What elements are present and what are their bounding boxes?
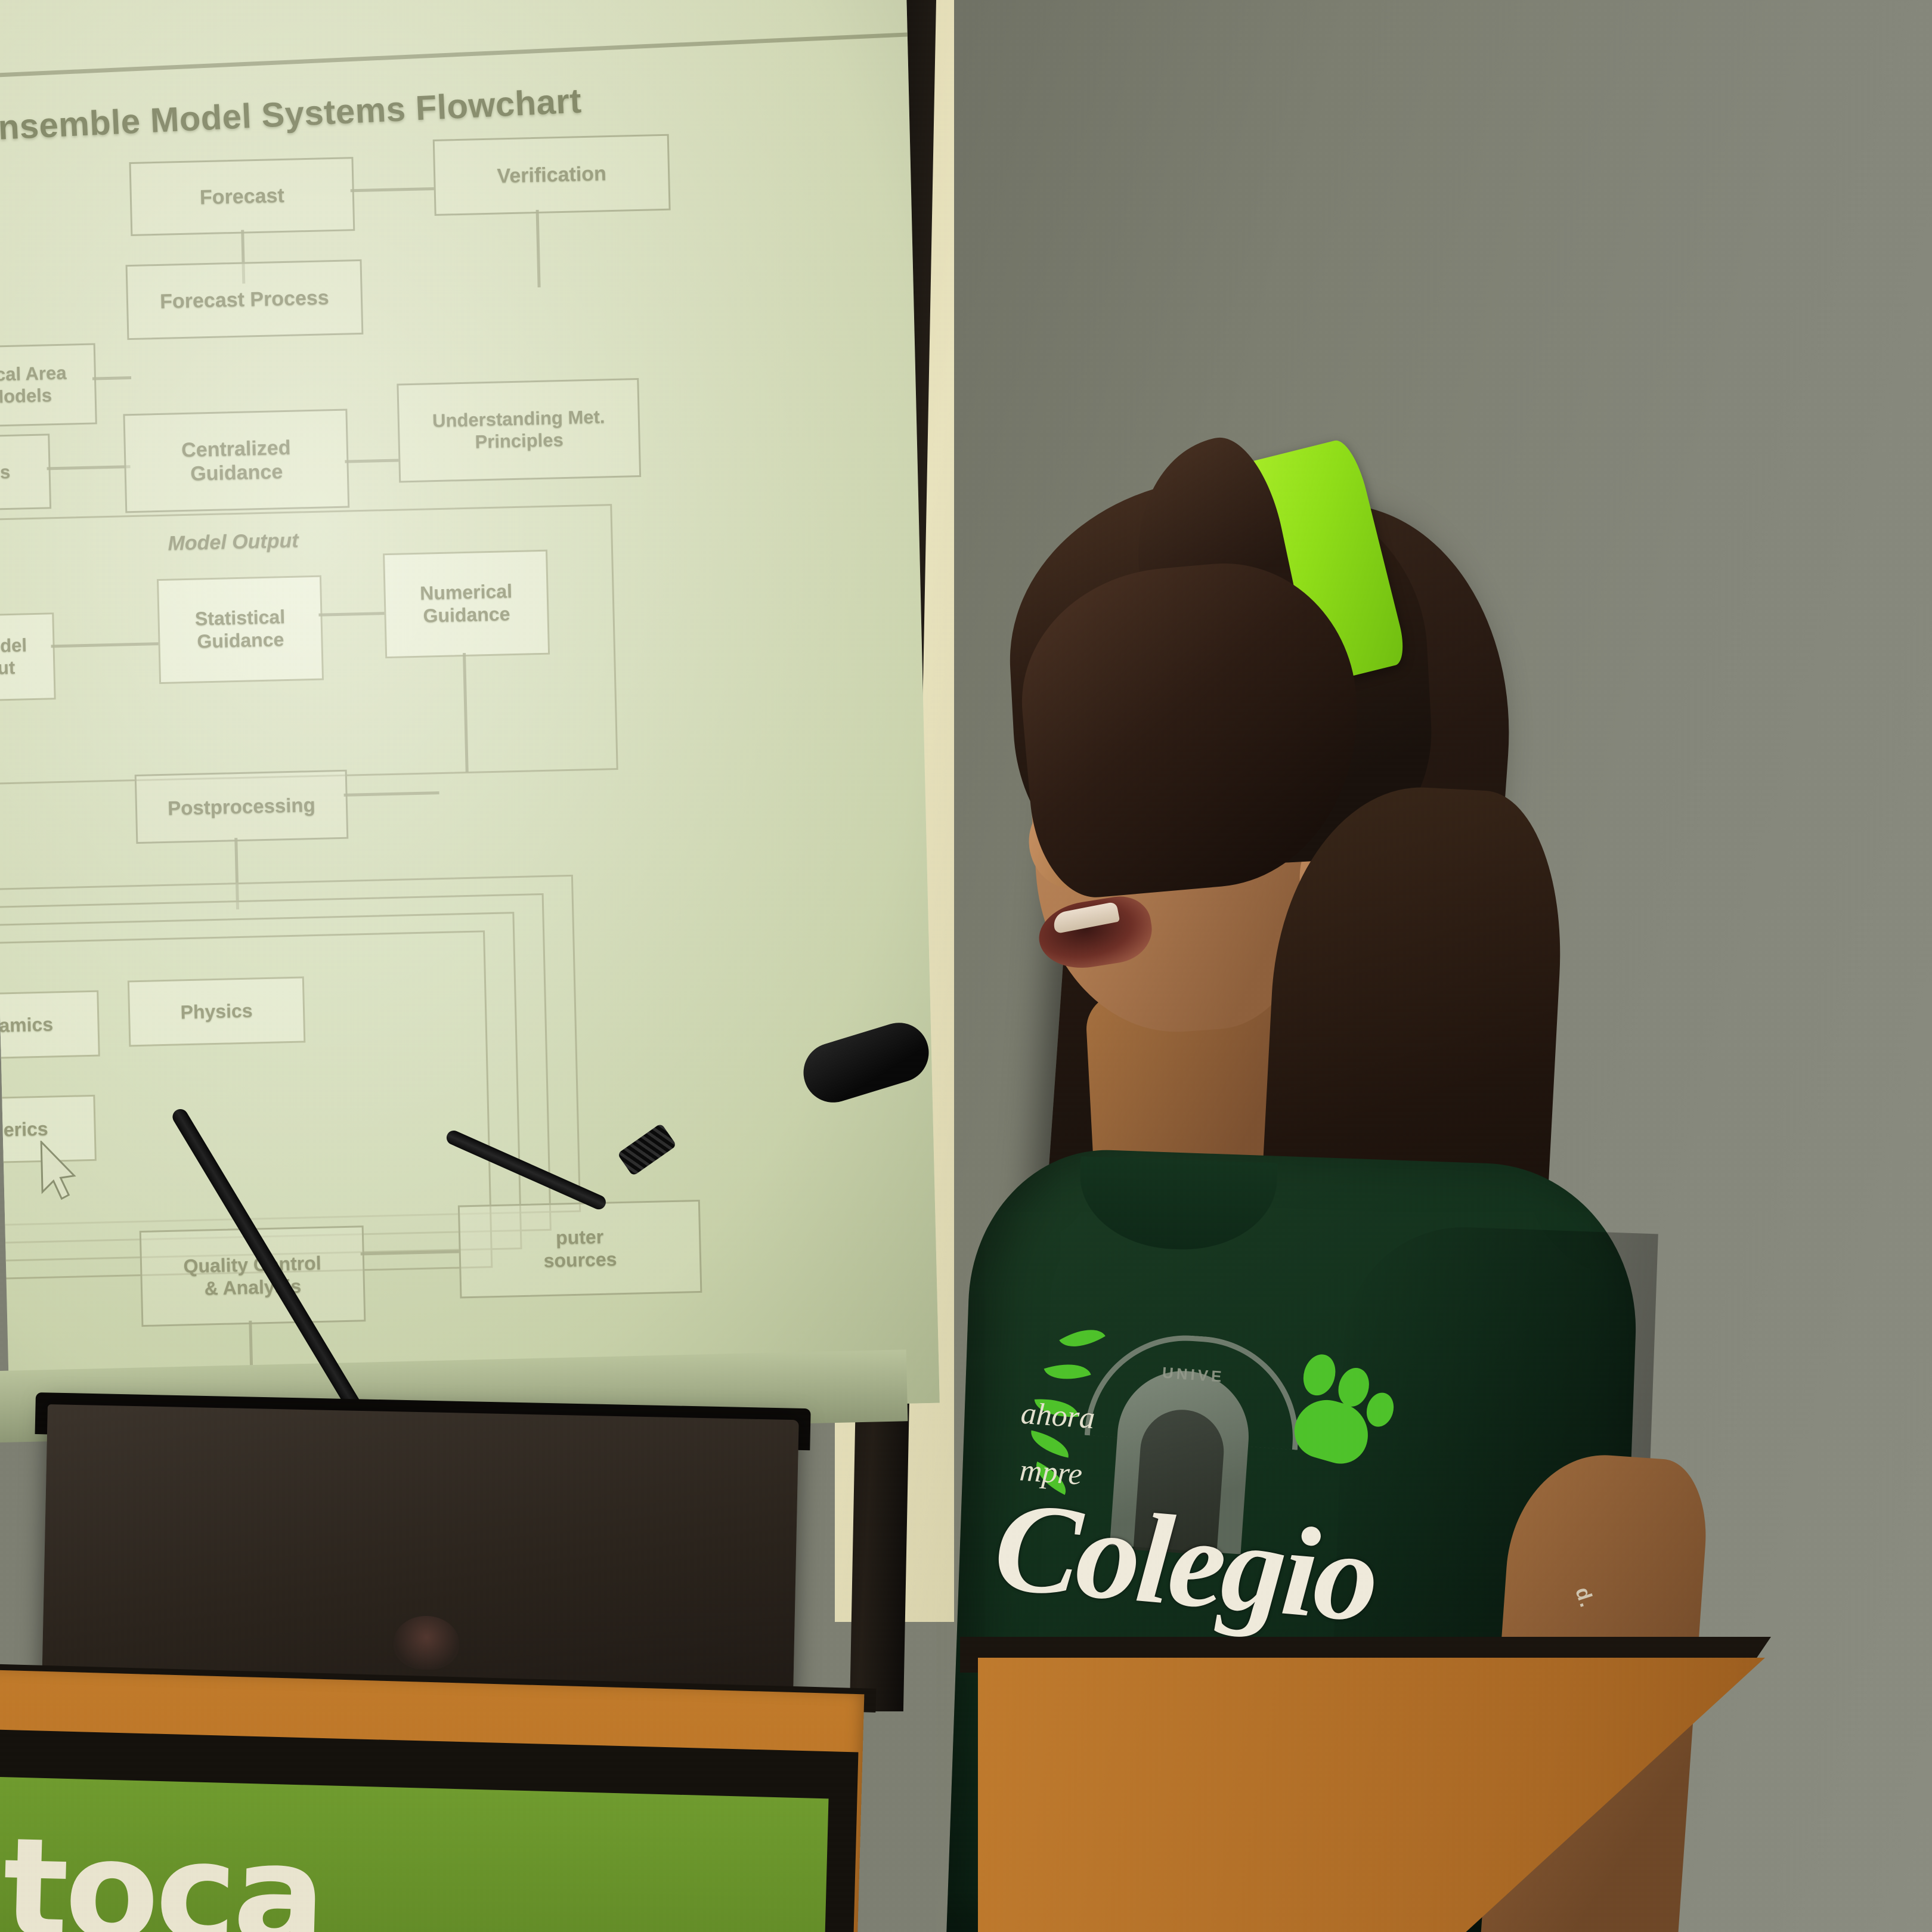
flow-box-physics: Physics (128, 977, 306, 1047)
flow-box-label: Forecast Process (160, 286, 329, 314)
mouse-cursor-icon (40, 1140, 78, 1206)
flow-box-label: Quality Control & Analysis (183, 1252, 322, 1301)
tshirt-text-ahora: ahora (1020, 1396, 1096, 1436)
flow-box-label: Dynamics (0, 1013, 54, 1038)
banner-text: toca (1, 1820, 324, 1932)
flow-box-local-area-models: Local Area Models (0, 343, 97, 428)
flow-box-label: Numerics (0, 1117, 48, 1142)
flow-box-observations: ations (0, 434, 51, 512)
slide-title-rule (0, 32, 919, 80)
flow-box-label: Postprocessing (168, 794, 315, 821)
flow-box-centralized-guidance: Centralized Guidance (123, 409, 349, 513)
flow-box-label: Numerical Guidance (420, 580, 513, 627)
presentation-photo: d Ensemble Model Systems Flowchart Forec… (0, 0, 1932, 1932)
projection-screen: d Ensemble Model Systems Flowchart Forec… (0, 0, 940, 1425)
flow-group-label-model-output: Model Output (168, 530, 299, 556)
flow-box-dynamics: Dynamics (0, 990, 100, 1061)
flow-box-numerical-guidance: Numerical Guidance (383, 550, 550, 658)
flow-box-computer-resources: puter sources (458, 1200, 702, 1299)
flow-box-label: Verification (497, 162, 606, 188)
connector (351, 187, 434, 192)
flow-box-label: ect Model Output (0, 635, 27, 681)
flow-box-label: Centralized Guidance (181, 436, 292, 487)
flow-box-verification: Verification (433, 134, 671, 216)
flow-box-label: Forecast (200, 184, 285, 209)
podium-banner: toca (0, 1777, 829, 1932)
laptop-logo (393, 1615, 460, 1670)
connector (344, 791, 439, 797)
flow-box-understanding-met-principles: Understanding Met. Principles (397, 378, 641, 483)
flow-box-label: Statistical Guidance (195, 606, 286, 653)
flow-box-forecast-process: Forecast Process (126, 259, 364, 340)
flow-box-label: ations (0, 462, 11, 485)
flow-box-direct-model-output: ect Model Output (0, 612, 56, 703)
flow-box-label: puter sources (543, 1226, 617, 1272)
connector (536, 210, 541, 287)
connector (345, 459, 398, 463)
flow-box-postprocessing: Postprocessing (135, 770, 349, 844)
flow-box-label: Local Area Models (0, 363, 67, 408)
flow-box-label: Physics (180, 999, 253, 1024)
flow-box-label: Understanding Met. Principles (432, 407, 606, 454)
flow-box-statistical-guidance: Statistical Guidance (157, 575, 324, 684)
connector (47, 465, 130, 470)
flow-box-forecast: Forecast (129, 157, 355, 236)
connector (92, 376, 131, 380)
